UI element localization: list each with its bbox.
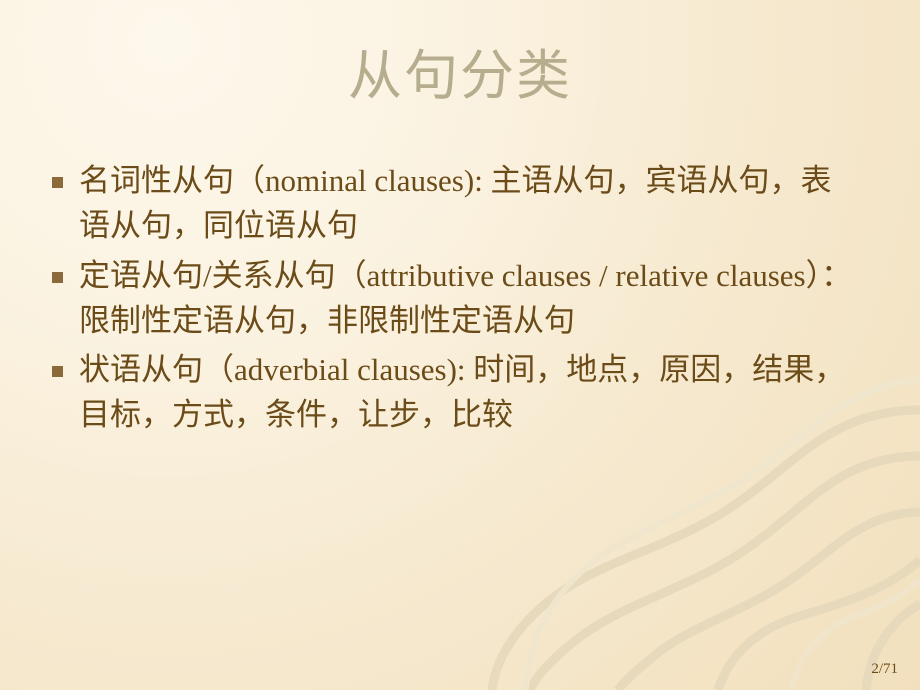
list-item-text: 定语从句/关系从句（attributive clauses / relative…	[79, 253, 862, 344]
list-item: 定语从句/关系从句（attributive clauses / relative…	[52, 253, 862, 344]
list-item-text: 名词性从句（nominal clauses): 主语从句，宾语从句，表语从句，同…	[79, 158, 862, 249]
bullet-list: 名词性从句（nominal clauses): 主语从句，宾语从句，表语从句，同…	[52, 158, 862, 442]
square-bullet-icon	[52, 272, 63, 283]
list-item: 名词性从句（nominal clauses): 主语从句，宾语从句，表语从句，同…	[52, 158, 862, 249]
square-bullet-icon	[52, 177, 63, 188]
page-title: 从句分类	[0, 48, 920, 105]
page-number: 2/71	[871, 661, 898, 678]
list-item-text: 状语从句（adverbial clauses): 时间，地点，原因，结果，目标，…	[79, 347, 862, 438]
list-item: 状语从句（adverbial clauses): 时间，地点，原因，结果，目标，…	[52, 347, 862, 438]
slide: 从句分类 名词性从句（nominal clauses): 主语从句，宾语从句，表…	[0, 0, 920, 690]
square-bullet-icon	[52, 366, 63, 377]
